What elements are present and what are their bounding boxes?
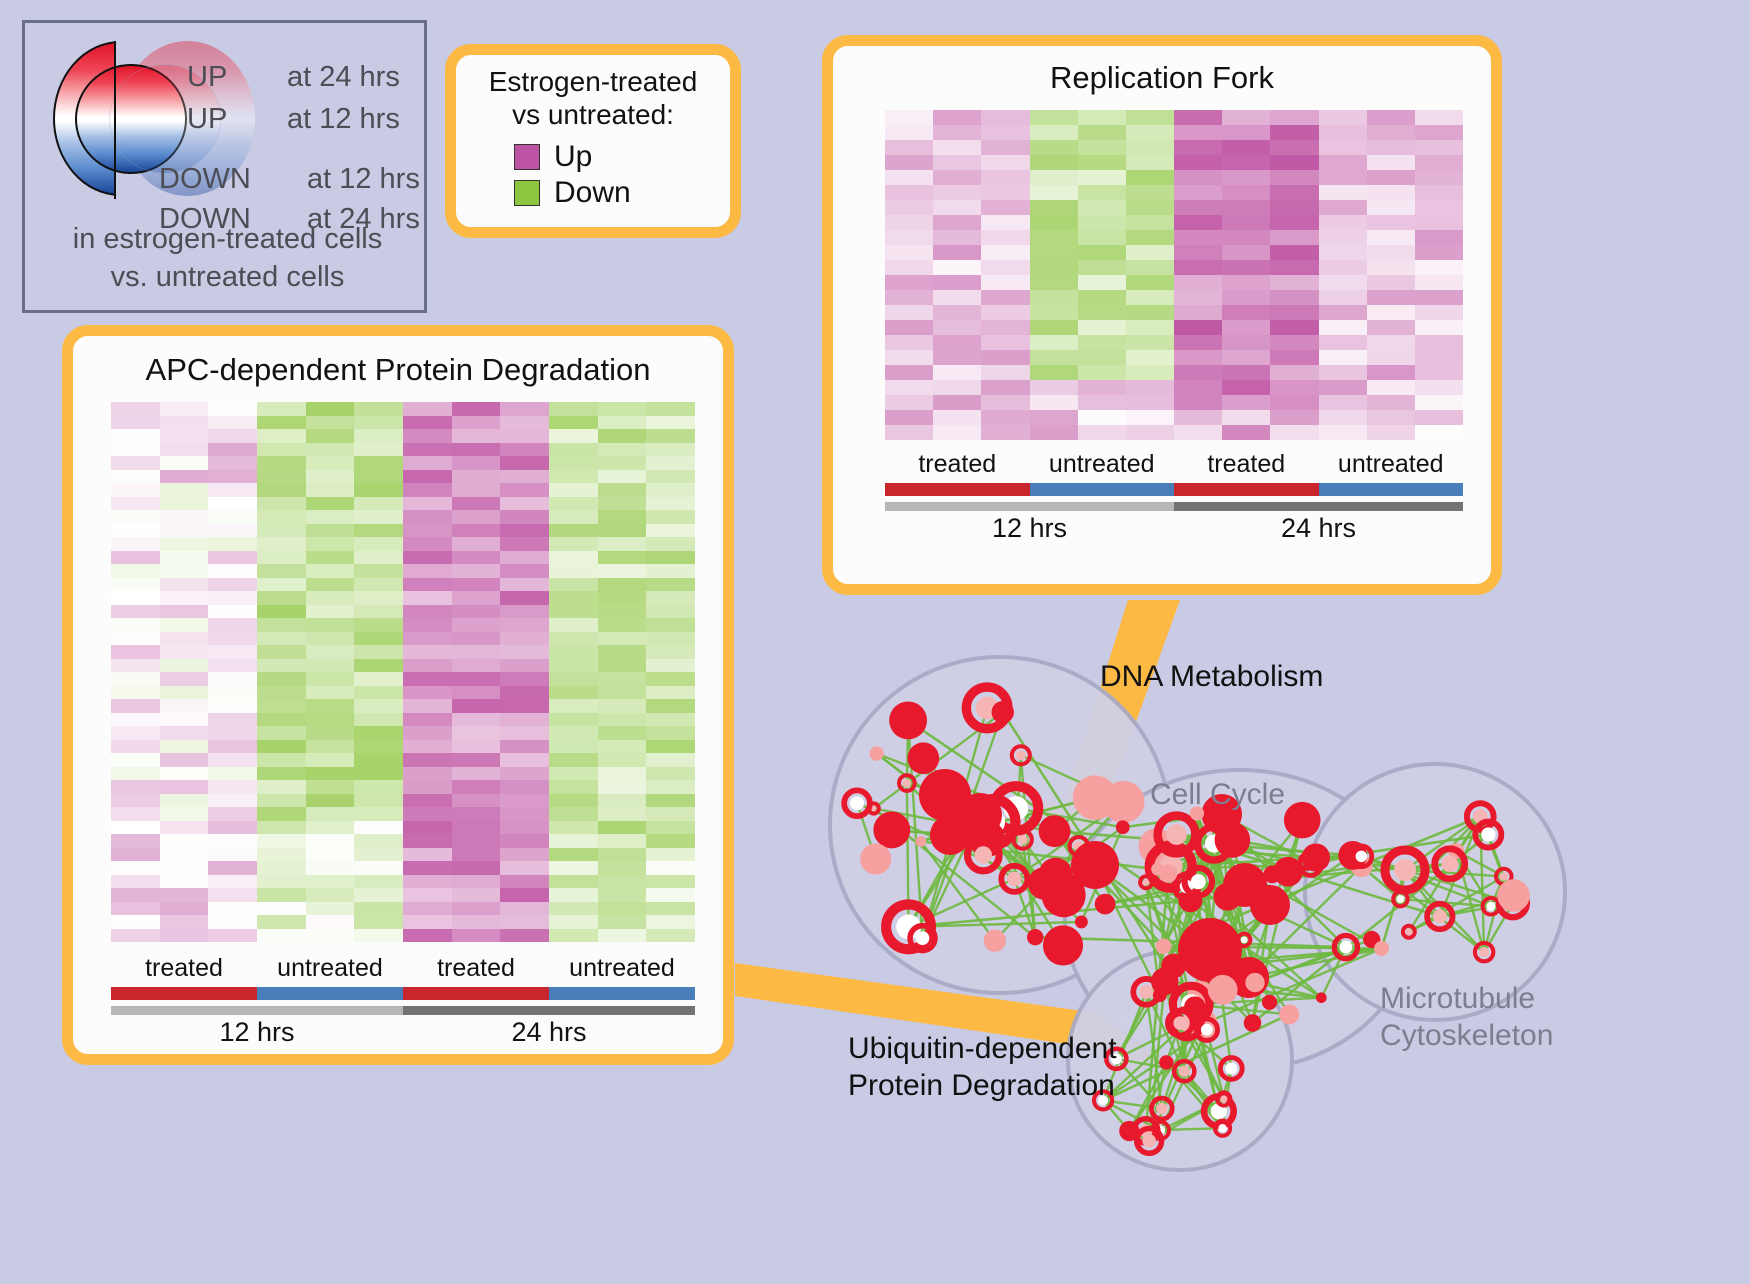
heatmap-cell: [1270, 380, 1318, 395]
heatmap-cell: [549, 794, 598, 808]
heatmap-cell: [1030, 380, 1078, 395]
heatmap-cell: [160, 834, 209, 848]
heatmap-cell: [452, 402, 501, 416]
heatmap-cell: [111, 645, 160, 659]
network-node-core: [1166, 824, 1187, 845]
heatmap-cell: [354, 834, 403, 848]
heatmap-cell: [257, 645, 306, 659]
heatmap-cell: [403, 605, 452, 619]
heatmap-cell: [500, 767, 549, 781]
heatmap-cell: [1126, 245, 1174, 260]
heatmap-cell: [452, 483, 501, 497]
heatmap-cell: [306, 861, 355, 875]
heatmap-cell: [208, 551, 257, 565]
network-node: [873, 811, 910, 848]
heatmap-cell: [1319, 245, 1367, 260]
heatmap-cell: [598, 524, 647, 538]
heatmap-cell: [208, 875, 257, 889]
key-footer-line2: vs. untreated cells: [25, 258, 430, 296]
heatmap-cell: [981, 320, 1029, 335]
heatmap-cell: [111, 591, 160, 605]
heatmap-cell: [1270, 335, 1318, 350]
heatmap-cell: [885, 200, 933, 215]
heatmap-cell: [208, 699, 257, 713]
heatmap-cell: [1222, 335, 1270, 350]
cluster-label-dna-metabolism: DNA Metabolism: [1100, 660, 1323, 694]
heatmap-cell: [646, 605, 695, 619]
heatmap-cell: [354, 794, 403, 808]
legend-item-down: Down: [514, 175, 730, 211]
heatmap-cell: [306, 672, 355, 686]
heatmap-cell: [257, 659, 306, 673]
heatmap-cell: [500, 429, 549, 443]
heatmap-cell: [208, 470, 257, 484]
heatmap-cell: [1222, 395, 1270, 410]
heatmap-cell: [160, 861, 209, 875]
heatmap-cell: [646, 767, 695, 781]
key-footer-line1: in estrogen-treated cells: [25, 220, 430, 258]
replication-fork-panel: Replication Fork treated untreated treat…: [822, 35, 1502, 595]
heatmap-cell: [933, 260, 981, 275]
heatmap-cell: [1174, 320, 1222, 335]
heatmap-cell: [1415, 425, 1463, 440]
heatmap-cell: [111, 429, 160, 443]
heatmap-cell: [354, 524, 403, 538]
key-row-up12-time: at 12 hrs: [287, 103, 400, 136]
network-node: [1043, 925, 1083, 965]
heatmap-cell: [1174, 155, 1222, 170]
heatmap-cell: [933, 395, 981, 410]
replication-fork-heatmap: [885, 110, 1463, 440]
heatmap-cell: [354, 726, 403, 740]
heatmap-cell: [1270, 215, 1318, 230]
heatmap-cell: [257, 443, 306, 457]
heatmap-cell: [1126, 110, 1174, 125]
heatmap-cell: [981, 245, 1029, 260]
network-node: [1279, 1004, 1299, 1024]
heatmap-cell: [1319, 425, 1367, 440]
heatmap-cell: [306, 416, 355, 430]
heatmap-cell: [598, 672, 647, 686]
heatmap-cell: [646, 888, 695, 902]
heatmap-cell: [403, 861, 452, 875]
heatmap-cell: [598, 605, 647, 619]
heatmap-cell: [598, 794, 647, 808]
heatmap-cell: [257, 848, 306, 862]
heatmap-cell: [354, 564, 403, 578]
heatmap-cell: [500, 915, 549, 929]
heatmap-cell: [646, 659, 695, 673]
apc-panel: APC-dependent Protein Degradation treate…: [62, 325, 734, 1065]
heatmap-cell: [549, 848, 598, 862]
heatmap-cell: [1030, 410, 1078, 425]
heatmap-cell: [403, 834, 452, 848]
rep-timebar-24: [1174, 502, 1463, 511]
heatmap-cell: [1415, 320, 1463, 335]
heatmap-cell: [646, 794, 695, 808]
heatmap-cell: [1174, 410, 1222, 425]
heatmap-cell: [111, 686, 160, 700]
heatmap-cell: [111, 753, 160, 767]
heatmap-cell: [1030, 320, 1078, 335]
heatmap-cell: [598, 767, 647, 781]
heatmap-cell: [1030, 200, 1078, 215]
heatmap-cell: [208, 848, 257, 862]
heatmap-cell: [306, 767, 355, 781]
heatmap-cell: [160, 483, 209, 497]
heatmap-cell: [403, 794, 452, 808]
heatmap-cell: [1222, 275, 1270, 290]
heatmap-cell: [452, 564, 501, 578]
heatmap-cell: [500, 780, 549, 794]
heatmap-cell: [885, 110, 933, 125]
heatmap-cell: [452, 672, 501, 686]
heatmap-cell: [981, 425, 1029, 440]
heatmap-cell: [257, 902, 306, 916]
network-node-core: [1220, 1095, 1227, 1102]
heatmap-cell: [885, 140, 933, 155]
heatmap-cell: [452, 524, 501, 538]
heatmap-cell: [111, 497, 160, 511]
heatmap-cell: [306, 821, 355, 835]
heatmap-cell: [1270, 125, 1318, 140]
heatmap-cell: [500, 591, 549, 605]
heatmap-cell: [933, 410, 981, 425]
heatmap-cell: [403, 699, 452, 713]
heatmap-cell: [160, 672, 209, 686]
heatmap-cell: [885, 215, 933, 230]
heatmap-cell: [1222, 140, 1270, 155]
heatmap-cell: [306, 632, 355, 646]
heatmap-cell: [1174, 125, 1222, 140]
network-node-core: [1016, 750, 1026, 760]
heatmap-cell: [598, 861, 647, 875]
heatmap-cell: [500, 551, 549, 565]
heatmap-cell: [452, 497, 501, 511]
heatmap-cell: [452, 767, 501, 781]
heatmap-cell: [452, 551, 501, 565]
heatmap-cell: [981, 410, 1029, 425]
heatmap-cell: [1126, 140, 1174, 155]
heatmap-cell: [452, 470, 501, 484]
replication-fork-title: Replication Fork: [833, 60, 1491, 96]
heatmap-cell: [306, 726, 355, 740]
heatmap-cell: [306, 402, 355, 416]
network-node: [1095, 894, 1116, 915]
heatmap-cell: [257, 618, 306, 632]
heatmap-cell: [1078, 290, 1126, 305]
heatmap-cell: [549, 807, 598, 821]
heatmap-cell: [111, 659, 160, 673]
heatmap-cell: [1222, 380, 1270, 395]
network-node: [1159, 1055, 1173, 1069]
heatmap-cell: [646, 402, 695, 416]
heatmap-cell: [403, 888, 452, 902]
heatmap-cell: [208, 929, 257, 943]
heatmap-cell: [549, 470, 598, 484]
heatmap-cell: [885, 305, 933, 320]
heatmap-cell: [208, 537, 257, 551]
heatmap-cell: [208, 416, 257, 430]
heatmap-cell: [354, 753, 403, 767]
network-node-core: [1139, 985, 1153, 999]
heatmap-cell: [549, 686, 598, 700]
network-node: [1245, 973, 1264, 992]
key-row-down12-label: DOWN: [159, 163, 251, 196]
rep-time-label-12: 12 hrs: [885, 513, 1174, 544]
heatmap-cell: [306, 929, 355, 943]
heatmap-cell: [1222, 215, 1270, 230]
heatmap-cell: [111, 483, 160, 497]
heatmap-cell: [403, 443, 452, 457]
heatmap-cell: [500, 510, 549, 524]
heatmap-cell: [354, 915, 403, 929]
heatmap-cell: [1415, 275, 1463, 290]
heatmap-cell: [1367, 110, 1415, 125]
heatmap-cell: [403, 726, 452, 740]
heatmap-cell: [646, 848, 695, 862]
heatmap-cell: [257, 470, 306, 484]
heatmap-cell: [933, 380, 981, 395]
heatmap-cell: [500, 470, 549, 484]
apc-time-bar: [111, 1006, 695, 1015]
network-node-core: [1142, 1134, 1156, 1148]
heatmap-cell: [549, 497, 598, 511]
heatmap-cell: [1174, 170, 1222, 185]
rep-bar-treated-24: [1174, 483, 1319, 496]
heatmap-cell: [257, 767, 306, 781]
network-node: [1215, 822, 1251, 858]
heatmap-cell: [500, 686, 549, 700]
heatmap-cell: [549, 672, 598, 686]
key-row-up12-label: UP: [187, 103, 227, 136]
heatmap-cell: [1030, 425, 1078, 440]
heatmap-cell: [1174, 395, 1222, 410]
heatmap-cell: [1126, 365, 1174, 380]
heatmap-cell: [885, 380, 933, 395]
network-node-core: [850, 796, 864, 810]
heatmap-cell: [257, 510, 306, 524]
heatmap-cell: [885, 425, 933, 440]
network-node-core: [1396, 895, 1404, 903]
heatmap-cell: [306, 645, 355, 659]
heatmap-cell: [500, 483, 549, 497]
heatmap-cell: [1319, 305, 1367, 320]
heatmap-cell: [306, 551, 355, 565]
heatmap-cell: [933, 275, 981, 290]
heatmap-cell: [306, 605, 355, 619]
heatmap-cell: [1078, 155, 1126, 170]
heatmap-cell: [1030, 170, 1078, 185]
heatmap-cell: [1367, 290, 1415, 305]
replication-fork-time-bar: [885, 502, 1463, 511]
network-node-core: [1218, 1124, 1226, 1132]
heatmap-cell: [354, 888, 403, 902]
heatmap-cell: [208, 483, 257, 497]
heatmap-cell: [933, 350, 981, 365]
heatmap-cell: [1174, 260, 1222, 275]
heatmap-cell: [354, 699, 403, 713]
heatmap-cell: [452, 875, 501, 889]
heatmap-cell: [1222, 185, 1270, 200]
heatmap-cell: [885, 365, 933, 380]
heatmap-cell: [1319, 380, 1367, 395]
heatmap-cell: [933, 170, 981, 185]
heatmap-cell: [306, 659, 355, 673]
heatmap-cell: [500, 902, 549, 916]
heatmap-cell: [598, 726, 647, 740]
heatmap-cell: [208, 834, 257, 848]
legend-swatch-down-icon: [514, 180, 540, 206]
heatmap-cell: [1222, 350, 1270, 365]
heatmap-cell: [354, 929, 403, 943]
heatmap-cell: [306, 618, 355, 632]
network-node-core: [903, 779, 912, 788]
heatmap-cell: [160, 726, 209, 740]
heatmap-cell: [981, 350, 1029, 365]
heatmap-cell: [257, 740, 306, 754]
heatmap-cell: [257, 672, 306, 686]
heatmap-cell: [208, 632, 257, 646]
network-node: [889, 701, 927, 739]
heatmap-cell: [111, 578, 160, 592]
heatmap-cell: [403, 659, 452, 673]
heatmap-cell: [257, 537, 306, 551]
heatmap-cell: [500, 699, 549, 713]
heatmap-cell: [111, 699, 160, 713]
heatmap-cell: [111, 807, 160, 821]
heatmap-cell: [1078, 200, 1126, 215]
heatmap-cell: [598, 753, 647, 767]
heatmap-cell: [354, 861, 403, 875]
heatmap-cell: [646, 753, 695, 767]
heatmap-cell: [160, 915, 209, 929]
heatmap-cell: [160, 564, 209, 578]
network-node: [1302, 843, 1330, 871]
heatmap-cell: [598, 470, 647, 484]
legend-item-up: Up: [514, 139, 730, 175]
heatmap-cell: [208, 564, 257, 578]
heatmap-cell: [257, 888, 306, 902]
heatmap-cell: [208, 524, 257, 538]
ubiquitin-line1: Ubiquitin-dependent: [848, 1030, 1117, 1067]
heatmap-cell: [257, 429, 306, 443]
heatmap-cell: [208, 645, 257, 659]
heatmap-cell: [306, 807, 355, 821]
heatmap-cell: [354, 510, 403, 524]
heatmap-cell: [1222, 125, 1270, 140]
heatmap-cell: [598, 537, 647, 551]
heatmap-cell: [257, 591, 306, 605]
heatmap-cell: [549, 578, 598, 592]
network-node-core: [1173, 1016, 1187, 1030]
heatmap-cell: [257, 497, 306, 511]
heatmap-cell: [452, 902, 501, 916]
heatmap-cell: [646, 699, 695, 713]
heatmap-cell: [257, 632, 306, 646]
heatmap-cell: [306, 686, 355, 700]
heatmap-cell: [646, 578, 695, 592]
heatmap-cell: [981, 185, 1029, 200]
heatmap-cell: [111, 834, 160, 848]
heatmap-cell: [598, 929, 647, 943]
heatmap-cell: [1270, 365, 1318, 380]
heatmap-cell: [452, 834, 501, 848]
heatmap-cell: [1319, 140, 1367, 155]
heatmap-cell: [933, 335, 981, 350]
heatmap-cell: [500, 753, 549, 767]
heatmap-cell: [1270, 410, 1318, 425]
heatmap-cell: [1367, 320, 1415, 335]
heatmap-cell: [598, 402, 647, 416]
heatmap-cell: [1174, 350, 1222, 365]
heatmap-cell: [1078, 275, 1126, 290]
heatmap-cell: [981, 335, 1029, 350]
heatmap-cell: [885, 185, 933, 200]
heatmap-cell: [257, 834, 306, 848]
heatmap-cell: [1126, 320, 1174, 335]
heatmap-cell: [500, 861, 549, 875]
heatmap-cell: [306, 429, 355, 443]
heatmap-cell: [160, 591, 209, 605]
heatmap-cell: [306, 510, 355, 524]
heatmap-cell: [403, 807, 452, 821]
heatmap-cell: [354, 402, 403, 416]
heatmap-cell: [549, 888, 598, 902]
legend-items: Up Down: [456, 139, 730, 211]
heatmap-cell: [549, 510, 598, 524]
heatmap-cell: [403, 902, 452, 916]
apc-group-label-2: treated: [403, 954, 549, 983]
heatmap-cell: [1174, 110, 1222, 125]
heatmap-cell: [885, 335, 933, 350]
heatmap-cell: [1078, 320, 1126, 335]
heatmap-cell: [885, 155, 933, 170]
heatmap-cell: [1078, 245, 1126, 260]
heatmap-cell: [933, 305, 981, 320]
network-node: [1039, 815, 1071, 847]
heatmap-cell: [1174, 245, 1222, 260]
heatmap-cell: [598, 564, 647, 578]
heatmap-cell: [1078, 110, 1126, 125]
heatmap-cell: [306, 834, 355, 848]
heatmap-cell: [208, 780, 257, 794]
heatmap-cell: [1367, 155, 1415, 170]
legend-label-down: Down: [554, 176, 631, 210]
heatmap-cell: [111, 402, 160, 416]
network-node: [1075, 915, 1088, 928]
heatmap-cell: [354, 483, 403, 497]
heatmap-cell: [1126, 425, 1174, 440]
network-node-core: [1191, 874, 1206, 889]
heatmap-cell: [549, 537, 598, 551]
heatmap-cell: [257, 564, 306, 578]
heatmap-cell: [111, 767, 160, 781]
heatmap-cell: [160, 659, 209, 673]
heatmap-cell: [208, 618, 257, 632]
heatmap-cell: [208, 753, 257, 767]
heatmap-cell: [598, 875, 647, 889]
heatmap-cell: [598, 915, 647, 929]
heatmap-cell: [1222, 245, 1270, 260]
heatmap-cell: [403, 848, 452, 862]
heatmap-cell: [933, 215, 981, 230]
heatmap-cell: [500, 416, 549, 430]
heatmap-cell: [452, 699, 501, 713]
heatmap-cell: [111, 443, 160, 457]
heatmap-cell: [160, 699, 209, 713]
heatmap-cell: [403, 470, 452, 484]
